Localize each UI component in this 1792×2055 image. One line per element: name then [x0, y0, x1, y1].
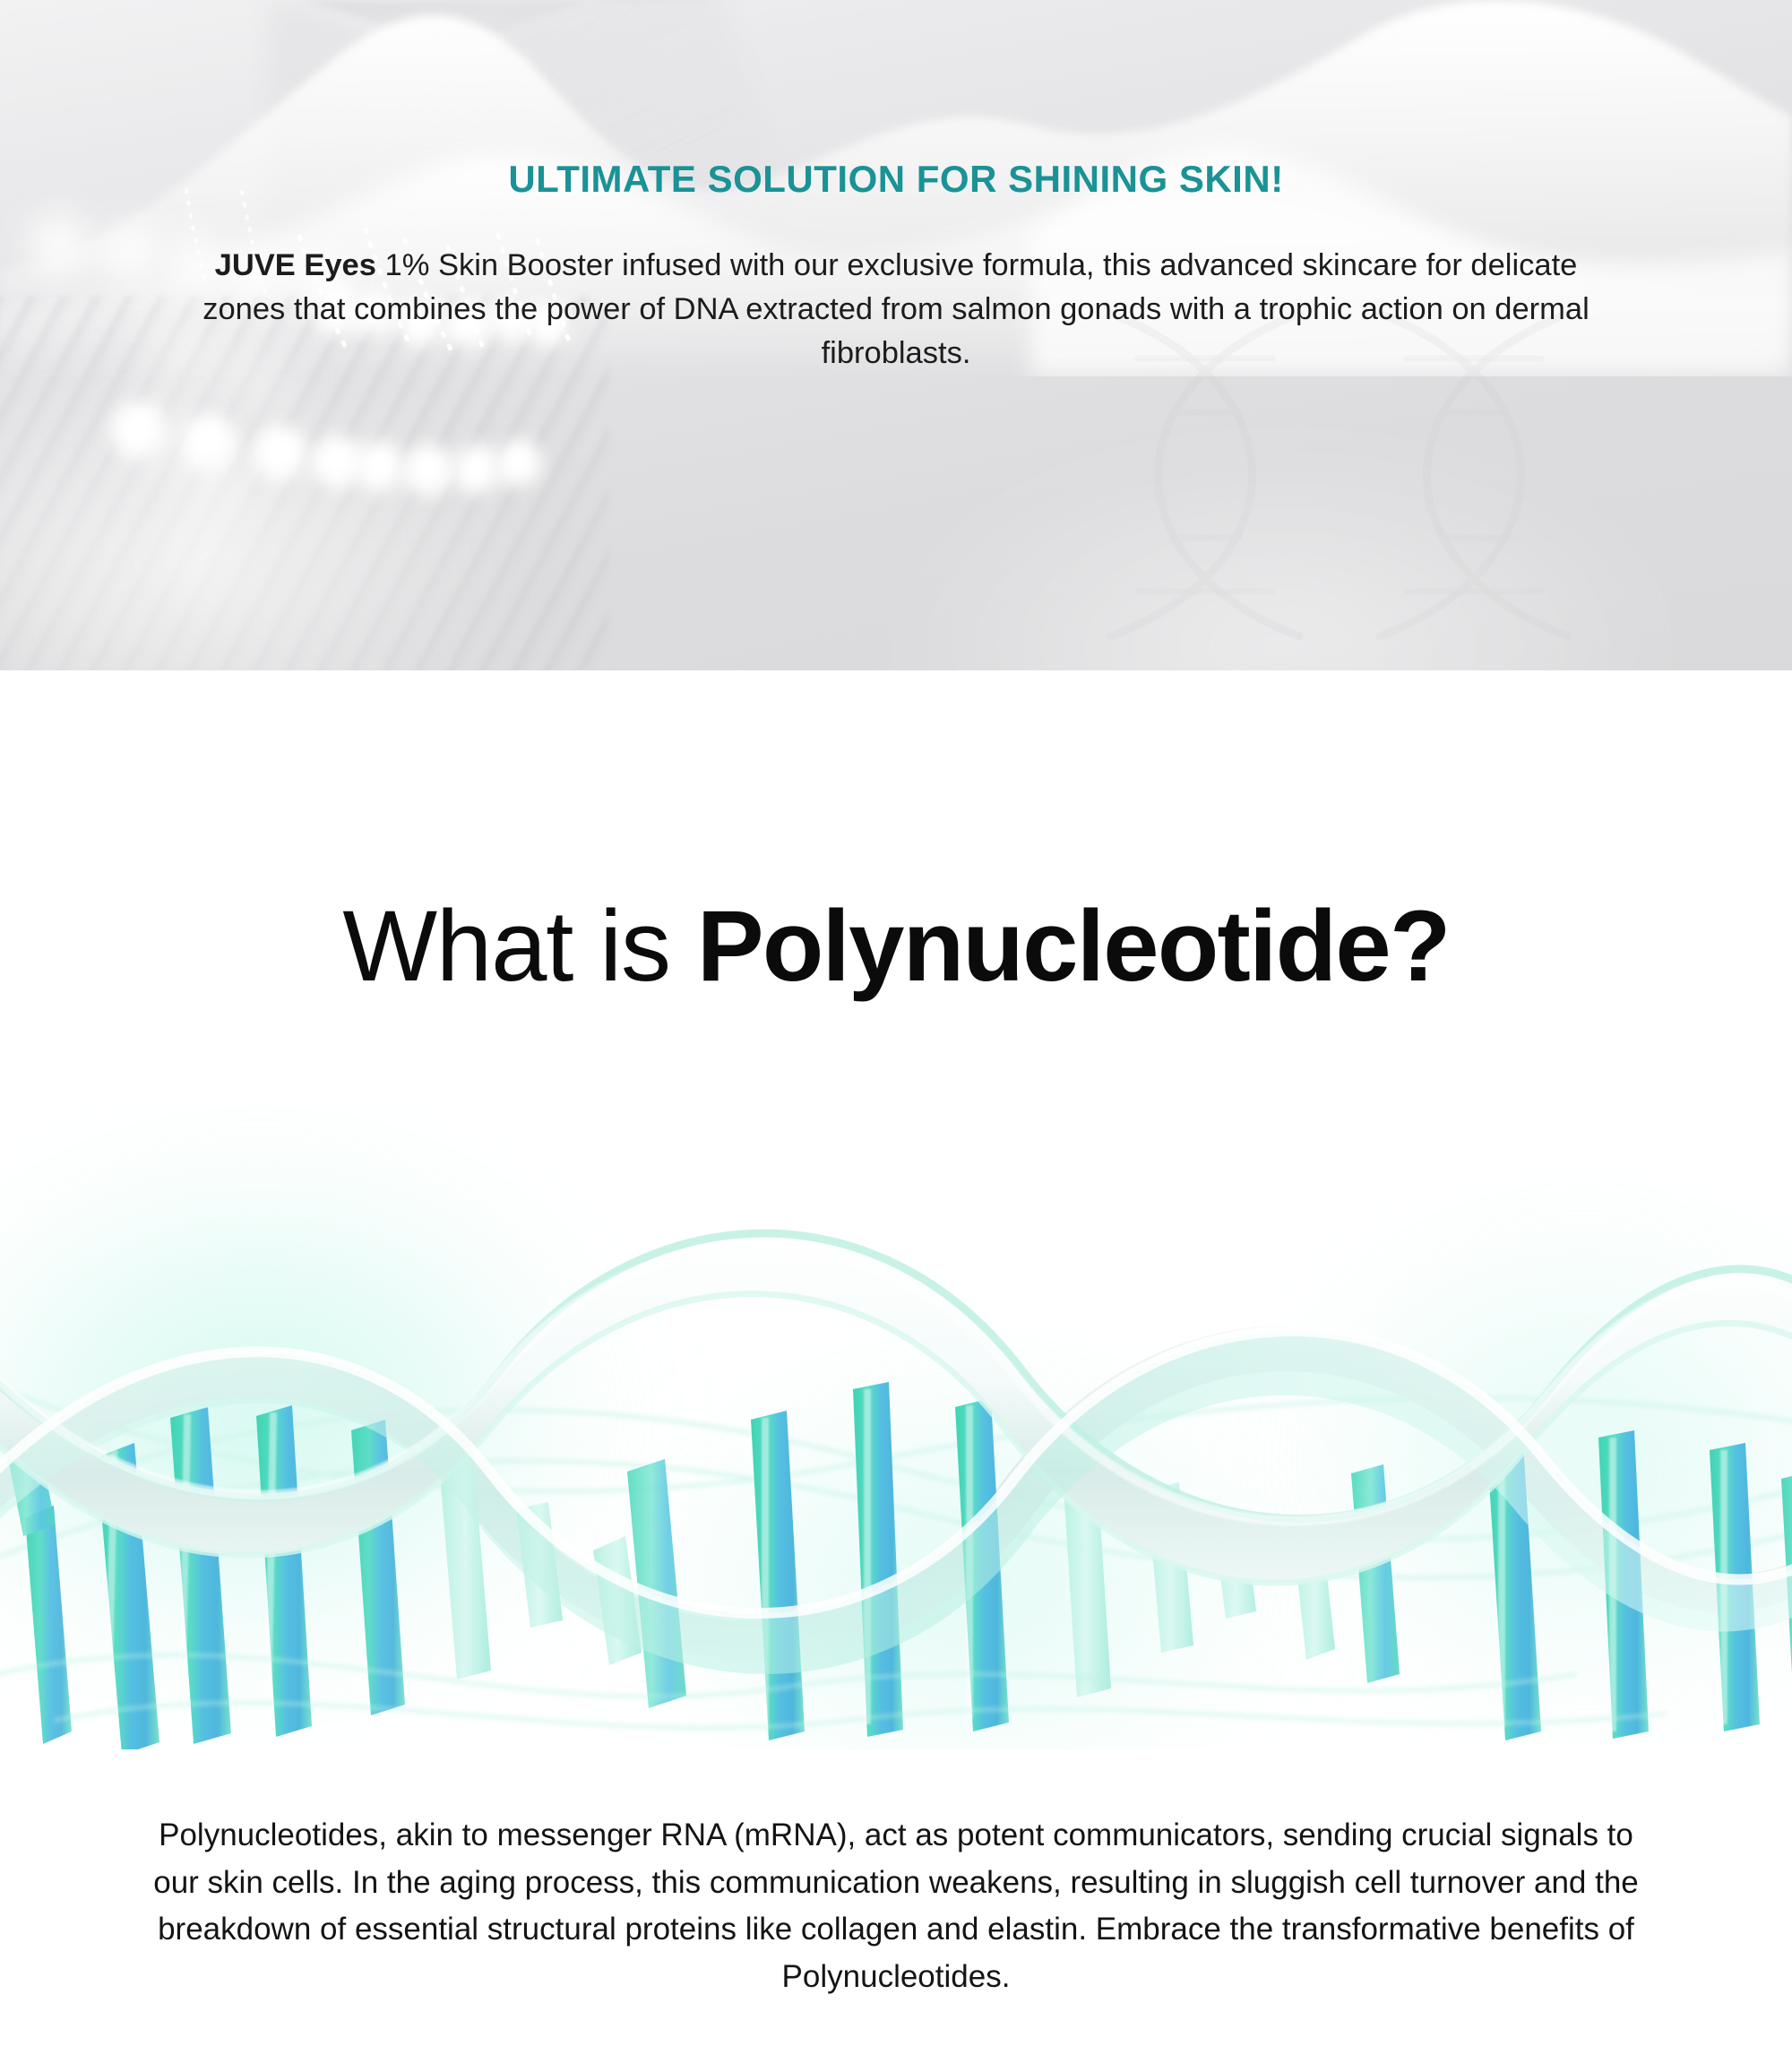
- dna-double-helix-icon: [0, 1104, 1792, 1749]
- page-title-bold: Polynucleotide?: [697, 890, 1450, 1002]
- dna-helix-illustration: [0, 1104, 1792, 1749]
- banner-heading: ULTIMATE SOLUTION FOR SHINING SKIN!: [0, 158, 1792, 201]
- banner-paragraph: JUVE Eyes 1% Skin Booster infused with o…: [170, 244, 1622, 376]
- bokeh-dot: [253, 425, 308, 484]
- page-title-light: What is: [342, 890, 697, 1002]
- bokeh-dot: [176, 529, 228, 581]
- description-paragraph: Polynucleotides, akin to messenger RNA (…: [143, 1812, 1649, 2000]
- bokeh-dot: [192, 455, 251, 514]
- page-title: What is Polynucleotide?: [0, 896, 1792, 997]
- bokeh-dot: [403, 445, 455, 498]
- bokeh-dot: [496, 439, 543, 489]
- banner-paragraph-brand: JUVE Eyes: [215, 248, 376, 282]
- bokeh-dot: [453, 445, 502, 496]
- product-info-page: ULTIMATE SOLUTION FOR SHINING SKIN! JUVE…: [0, 0, 1792, 2055]
- banner-paragraph-text: 1% Skin Booster infused with our exclusi…: [202, 248, 1590, 370]
- hero-banner: ULTIMATE SOLUTION FOR SHINING SKIN! JUVE…: [0, 0, 1792, 670]
- bokeh-dot: [355, 441, 405, 495]
- bokeh-dot: [27, 213, 91, 278]
- bokeh-dot: [100, 224, 161, 285]
- bokeh-dot: [133, 405, 195, 468]
